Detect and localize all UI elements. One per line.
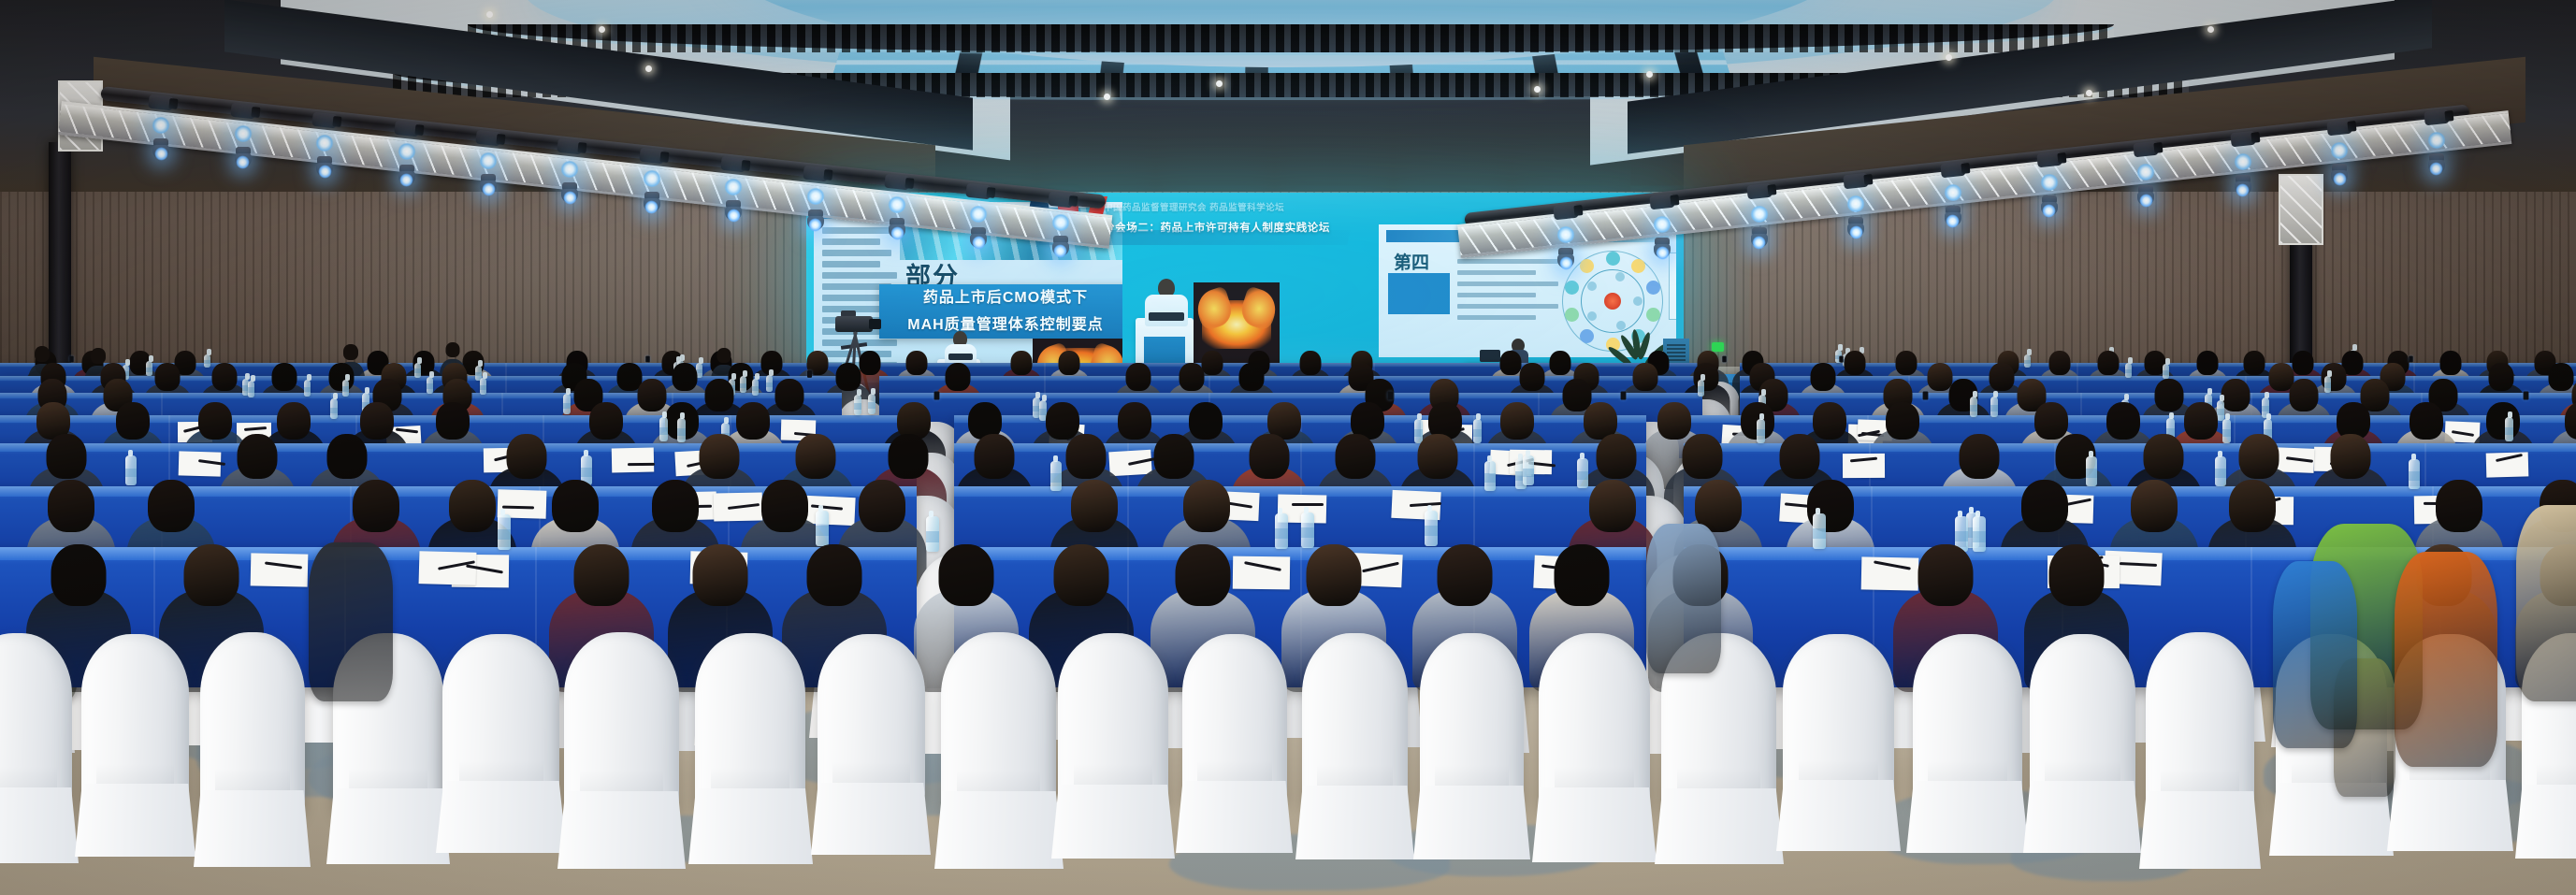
chair-cover [442,634,559,805]
person-head [155,363,181,391]
chair-cover-skirt [2139,791,2261,869]
slide-title-bar: 药品上市后CMO模式下 MAH质量管理体系控制要点 [879,284,1122,339]
notepad [1843,454,1885,478]
chair-cover [1058,633,1168,809]
water-bottle [1523,455,1534,485]
diagram-node [1646,308,1660,322]
water-bottle [2505,417,2513,441]
truss-lamp-glow [2234,153,2252,170]
chair-cover-skirt [1051,785,1175,859]
draped-coat [1646,524,1721,673]
staff-head [446,342,460,357]
water-bottle [1698,380,1704,397]
diagram-inner-node [1633,296,1643,306]
smartphone [1722,356,1726,363]
slide-title-line2: MAH质量管理体系控制要点 [879,311,1122,339]
par-can-fixture [1940,162,1965,179]
camera-body [835,316,873,332]
person-head [1589,480,1636,532]
person-head [212,363,238,391]
par-can-fixture [394,121,419,137]
chair-cover-skirt [2387,780,2513,851]
par-can-fixture [721,156,746,173]
person-head [507,434,547,479]
staff-head [91,348,106,364]
notepad [612,448,655,473]
chair-cover-skirt [2023,781,2141,853]
light-beam [808,218,822,232]
person-head [327,434,368,479]
chair-cover-skirt [436,781,567,853]
right-slide-bullet-list [1457,253,1558,326]
person-head [859,480,905,532]
chair-cover-skirt [557,791,686,869]
person-head [1179,363,1205,391]
person-head [1500,402,1534,440]
moving-head-fixture [1556,248,1576,267]
person-head [552,480,599,532]
moving-head-fixture [1652,238,1672,256]
person-head [2290,379,2319,411]
person-head [700,434,740,479]
ceiling-rib-outer [468,24,2114,52]
center-speaker-body [1145,295,1188,326]
person-head [47,434,87,479]
chair-cover-skirt [194,790,311,867]
smartphone [645,356,649,363]
person-head [2239,434,2279,479]
slide-title-line1: 药品上市后CMO模式下 [879,284,1122,311]
person-head [1555,544,1610,606]
moving-head-fixture [1845,217,1866,236]
chair-cover-skirt [1413,786,1530,859]
light-beam [644,200,658,214]
truss-lamp-glow [806,188,825,205]
person-head [116,402,150,440]
draped-coat [2395,552,2497,767]
par-can-fixture [230,103,255,120]
smartphone [69,356,73,363]
person-head [2049,544,2105,606]
person-head [1183,480,1230,532]
person-head [1886,402,1919,440]
par-can-fixture [884,174,909,191]
downlight [1534,86,1541,93]
person-head [2049,351,2071,375]
light-beam [1559,256,1573,270]
staff-head [717,348,731,363]
person-head [1054,544,1109,606]
chair-cover-skirt [75,784,195,857]
chair-cover [1783,634,1894,803]
moving-head-fixture [1943,206,1963,224]
person-head [1683,434,1723,479]
truss-lamp-glow [2427,132,2446,149]
par-can-fixture [803,165,828,181]
person-head [1300,351,1322,375]
moving-head-fixture [2039,195,2060,214]
par-can-fixture [557,138,583,155]
light-beam [2236,183,2250,197]
water-bottle [854,395,861,415]
downlight [1216,80,1223,87]
right-slide-color-block [1388,273,1450,314]
person-head [1780,434,1820,479]
person-head [1520,363,1545,391]
smartphone [1923,391,1929,399]
water-bottle [1970,397,1977,417]
pen [1292,503,1324,506]
water-bottle [330,398,338,419]
person-head [51,544,107,606]
person-head [2098,351,2120,375]
person-head [2440,351,2462,375]
water-bottle [1813,513,1826,549]
person-head [1633,363,1658,391]
person-head [272,363,297,391]
moving-head-fixture [2426,153,2447,172]
light-beam [727,209,741,223]
person-head [353,480,399,532]
person-head [761,480,808,532]
chair-cover-skirt [1295,786,1414,859]
person-head [148,480,195,532]
person-head [48,480,94,532]
person-head [1250,434,1290,479]
person-head [1071,480,1118,532]
chair-cover-skirt [1776,780,1901,851]
draped-coat [2516,505,2576,701]
person-head [889,434,929,479]
moving-head-fixture [2329,164,2350,182]
par-can-fixture [966,182,991,199]
person-head [1960,434,2000,479]
water-bottle [1425,511,1438,546]
moving-head-fixture [233,147,253,166]
diagram-center-node [1604,293,1621,310]
water-bottle [1484,461,1496,491]
person-head [2131,480,2178,532]
chair-cover-skirt [326,788,450,864]
downlight [1646,71,1653,78]
light-beam [318,165,332,179]
staff-head [35,346,50,362]
table-fold-line [2250,547,2252,687]
water-bottle [342,380,349,397]
person-head [574,544,630,606]
person-head [1438,544,1493,606]
truss-lamp-glow [643,170,661,187]
par-can-fixture [639,147,664,164]
smartphone [2409,356,2412,363]
chair-cover [1182,634,1287,805]
ceiling-rib-teeth [468,24,2114,52]
smartphone [807,370,812,378]
moving-head-fixture [723,200,744,219]
truss-lamp-glow [315,135,334,152]
slide-speaker-laptop [948,354,973,360]
chair-cover [1913,634,2022,805]
person-head [796,434,836,479]
downlight [1946,54,1952,61]
moving-head-fixture [2233,175,2253,194]
draped-coat [309,542,393,701]
diagram-node [1606,252,1620,266]
conference-hall-photo: 部分 药品上市后CMO模式下 MAH质量管理体系控制要点 [0,0,2576,895]
person-head [1418,434,1458,479]
chair-cover [1420,633,1524,810]
chair-cover [818,634,925,806]
water-bottle [1301,512,1314,548]
truss-lamp-glow [1051,214,1070,231]
chair-cover [81,634,189,809]
par-can-fixture [475,129,500,146]
moving-head-fixture [968,227,989,246]
moving-head-fixture [2135,185,2156,204]
chair-cover-skirt [1906,781,2029,853]
moving-head-fixture [397,165,417,183]
downlight [486,11,493,18]
person-head [1011,351,1033,375]
person-head [1918,544,1974,606]
person-head [2331,434,2371,479]
truss-lamp-glow [234,125,253,142]
smartphone [2524,391,2529,399]
diagram-node [1565,308,1579,322]
truss-lamp-glow [969,206,988,223]
truss-lamp-glow [1846,195,1865,212]
downlight [1104,94,1110,100]
chair-cover [564,632,679,817]
downlight [645,65,652,72]
par-can-fixture [312,111,338,128]
draped-coat [2273,561,2357,748]
truss-lamp-glow [152,117,170,134]
chair-cover [2146,632,2254,816]
camera-lens-icon [869,319,881,329]
water-bottle [868,394,876,414]
smartphone [934,391,940,399]
person-head [1126,363,1151,391]
person-head [2144,434,2184,479]
smartphone [1621,391,1627,399]
truss-lamp-glow [1944,184,1962,201]
par-can-fixture [1843,172,1868,189]
person-head [589,402,623,440]
right-slide-detail-box [1669,253,1676,320]
water-bottle [563,394,571,414]
pen [628,463,655,466]
light-beam [972,236,986,250]
par-can-fixture [1553,204,1578,221]
water-bottle [498,514,511,550]
downlight [2207,26,2214,33]
person-head [906,351,928,375]
chair-cover [695,633,805,814]
moving-head-fixture [314,156,335,175]
person-head [1066,434,1107,479]
person-head [652,480,699,532]
moving-head-fixture [887,218,907,237]
person-head [1307,544,1362,606]
person-head [975,434,1015,479]
chair-cover-skirt [1176,781,1293,853]
par-can-fixture [2134,140,2159,157]
light-beam [1656,246,1670,260]
person-head [807,544,862,606]
chair-cover-skirt [688,788,813,864]
chair-cover [0,633,72,813]
person-head [2486,402,2520,440]
chair-cover [1539,633,1650,813]
truss-lamp-glow [1750,206,1769,223]
smartphone [1388,391,1394,399]
water-bottle [2125,363,2132,378]
moving-head-fixture [1749,227,1770,246]
chair-cover-skirt [0,787,79,863]
downlight [2086,90,2092,96]
moving-head-fixture [1050,236,1071,254]
person-head [1239,363,1265,391]
water-bottle [304,380,311,397]
light-beam [1849,225,1863,239]
staff-head [343,344,358,360]
light-beam [2139,194,2153,208]
person-head [184,544,239,606]
truss-lamp-glow [398,143,416,160]
chair-cover-skirt [1655,788,1784,864]
diagram-node [1631,259,1645,273]
truss-lamp-glow [479,152,498,169]
center-speaker-laptop [1149,312,1184,321]
diagram-node [1565,281,1579,295]
person-head [2489,363,2514,391]
chair-cover [200,632,305,816]
truss-head-right [2279,174,2323,245]
moving-head-fixture [559,182,580,201]
light-beam [482,182,496,196]
chair-cover [2030,634,2135,805]
person-head [329,363,355,391]
person-head [836,363,861,391]
downlight [599,26,605,33]
par-can-fixture [2424,109,2449,126]
chair-cover-skirt [1532,787,1657,862]
moving-head-fixture [805,209,826,228]
person-head [449,480,496,532]
smartphone [1839,356,1843,363]
person-head [939,544,994,606]
person-head [1336,434,1376,479]
chair-cover [1302,633,1408,810]
chair-cover [941,632,1056,817]
par-can-fixture [1746,182,1772,199]
water-bottle [2163,364,2169,379]
person-head [693,544,748,606]
moving-head-fixture [478,174,499,193]
person-head [436,402,470,440]
light-beam [890,226,904,240]
person-head [238,434,278,479]
person-head [2197,351,2219,375]
chair-cover-skirt [811,783,931,855]
water-bottle [752,379,759,396]
chair-cover-skirt [2515,785,2576,859]
right-slide-section-marker: 第四 [1394,249,1429,274]
person-head [1597,434,1637,479]
person-head [1176,544,1231,606]
moving-head-fixture [642,192,662,210]
light-beam [154,147,168,161]
water-bottle [659,417,668,441]
par-can-fixture [1650,194,1675,210]
person-head [1059,351,1080,375]
person-head [2021,480,2068,532]
truss-lamp-glow [2040,174,2059,191]
banner-subtitle: 中国药品监督管理研究会 药品监管科学论坛 [1104,200,1375,213]
person-head [1154,434,1194,479]
person-head [1811,363,1836,391]
person-head [2229,480,2276,532]
water-bottle [816,511,829,546]
moving-head-fixture [151,138,171,157]
par-can-fixture [2230,130,2255,147]
par-can-fixture [2036,152,2062,168]
water-bottle [1990,397,1998,417]
par-can-fixture [149,94,174,110]
water-bottle [248,381,254,397]
chair-cover-skirt [934,791,1064,869]
person-head [946,363,971,391]
person-head [2436,480,2482,532]
par-can-fixture [1048,192,1073,209]
person-head [2410,402,2443,440]
light-beam [2333,172,2347,186]
